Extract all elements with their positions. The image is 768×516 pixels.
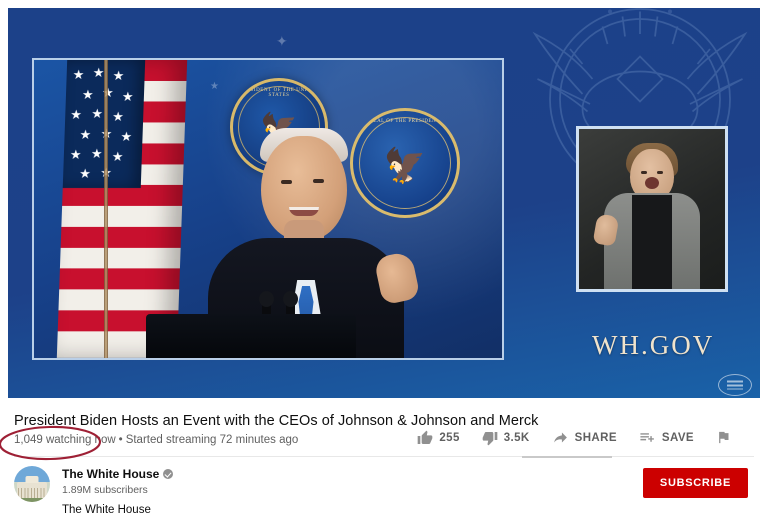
watching-now-count: 1,049 watching now	[14, 434, 116, 446]
decor-star-icon: ✦	[276, 34, 288, 48]
whgov-wordmark: WH.GOV	[592, 330, 714, 361]
channel-name-row[interactable]: The White House	[62, 467, 173, 481]
thumbs-down-icon	[482, 430, 498, 446]
stream-status: Started streaming 72 minutes ago	[126, 434, 299, 446]
channel-text-block: The White House 1.89M subscribers	[62, 466, 173, 496]
share-label: SHARE	[575, 432, 617, 444]
save-button[interactable]: SAVE	[628, 429, 705, 446]
verified-badge-icon	[163, 469, 173, 479]
channel-row[interactable]: The White House 1.89M subscribers	[14, 466, 173, 502]
video-description: The White House	[62, 504, 151, 516]
backdrop-star-icon: ★	[210, 82, 219, 92]
save-to-playlist-icon	[639, 429, 656, 446]
dislike-button[interactable]: 3.5K	[471, 430, 541, 446]
flag-pole	[104, 60, 108, 358]
dislike-count: 3.5K	[504, 432, 530, 444]
interpreter-top	[632, 195, 672, 289]
white-house-lawn	[14, 498, 50, 502]
subscriber-count: 1.89M subscribers	[62, 484, 173, 496]
president-podium-shot: ★ ★ ★ ★ ★ ★ ★ ★ ★ ★ ★ ★ ★ ★ ★ ★	[32, 58, 504, 360]
save-label: SAVE	[662, 432, 694, 444]
video-title: President Biden Hosts an Event with the …	[14, 413, 538, 429]
video-meta-row: 1,049 watching now•Started streaming 72 …	[14, 434, 298, 446]
share-arrow-icon	[552, 429, 569, 446]
interpreter-cardigan	[604, 193, 700, 289]
video-actions-row: 255 3.5K SHARE SAVE	[406, 429, 748, 446]
whitehouse-logo-icon: WH.GOV	[718, 374, 752, 396]
podium	[146, 314, 356, 358]
video-info-section: President Biden Hosts an Event with the …	[0, 398, 768, 512]
flag-icon	[716, 430, 731, 445]
share-button[interactable]: SHARE	[541, 429, 628, 446]
like-button[interactable]: 255	[406, 430, 470, 446]
thumbs-up-icon	[417, 430, 433, 446]
interpreter-mouth	[645, 177, 659, 189]
section-divider	[14, 456, 754, 457]
meta-separator: •	[119, 434, 123, 446]
channel-avatar[interactable]	[14, 466, 50, 502]
video-player[interactable]: ✦ ✦ ✦ ★ ★ ★ ★ ★ ★ ★ ★ ★ ★ ★ ★ ★	[8, 8, 760, 398]
channel-name: The White House	[62, 467, 159, 481]
like-count: 255	[439, 432, 459, 444]
subscribe-button[interactable]: SUBSCRIBE	[643, 468, 748, 498]
sign-language-interpreter-inset	[576, 126, 728, 292]
figure-mouth	[289, 207, 319, 216]
video-stage: ✦ ✦ ✦ ★ ★ ★ ★ ★ ★ ★ ★ ★ ★ ★ ★ ★	[8, 8, 760, 398]
report-button[interactable]	[705, 430, 748, 445]
seal-ring-text: PRESIDENT OF THE UNITED STATES	[233, 88, 325, 98]
actions-underline	[522, 456, 612, 458]
